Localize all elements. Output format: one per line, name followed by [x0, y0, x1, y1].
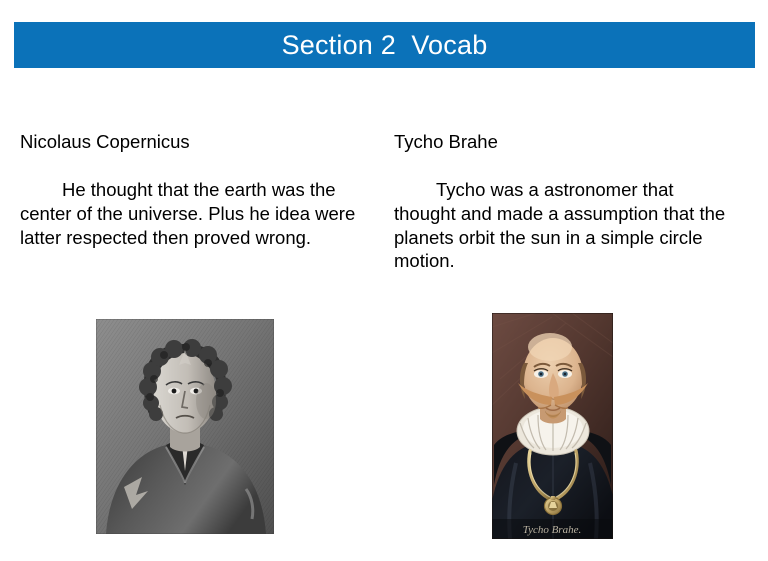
- brahe-portrait-svg: Tycho Brahe.: [492, 313, 613, 539]
- body-copernicus: He thought that the earth was the center…: [20, 178, 365, 249]
- brahe-painting-caption: Tycho Brahe.: [523, 524, 581, 536]
- heading-brahe: Tycho Brahe: [394, 131, 739, 152]
- body-brahe: Tycho was a astronomer that thought and …: [394, 178, 739, 273]
- slide-title-bar: Section 2 Vocab: [14, 22, 755, 68]
- brahe-portrait-image: Tycho Brahe.: [492, 313, 613, 539]
- content-column-brahe: Tycho Brahe Tycho was a astronomer that …: [394, 131, 739, 273]
- content-column-copernicus: Nicolaus Copernicus He thought that the …: [20, 131, 365, 249]
- copernicus-portrait-image: [96, 319, 274, 534]
- heading-copernicus: Nicolaus Copernicus: [20, 131, 365, 152]
- slide-title: Section 2 Vocab: [282, 32, 488, 59]
- copernicus-portrait-svg: [96, 319, 274, 534]
